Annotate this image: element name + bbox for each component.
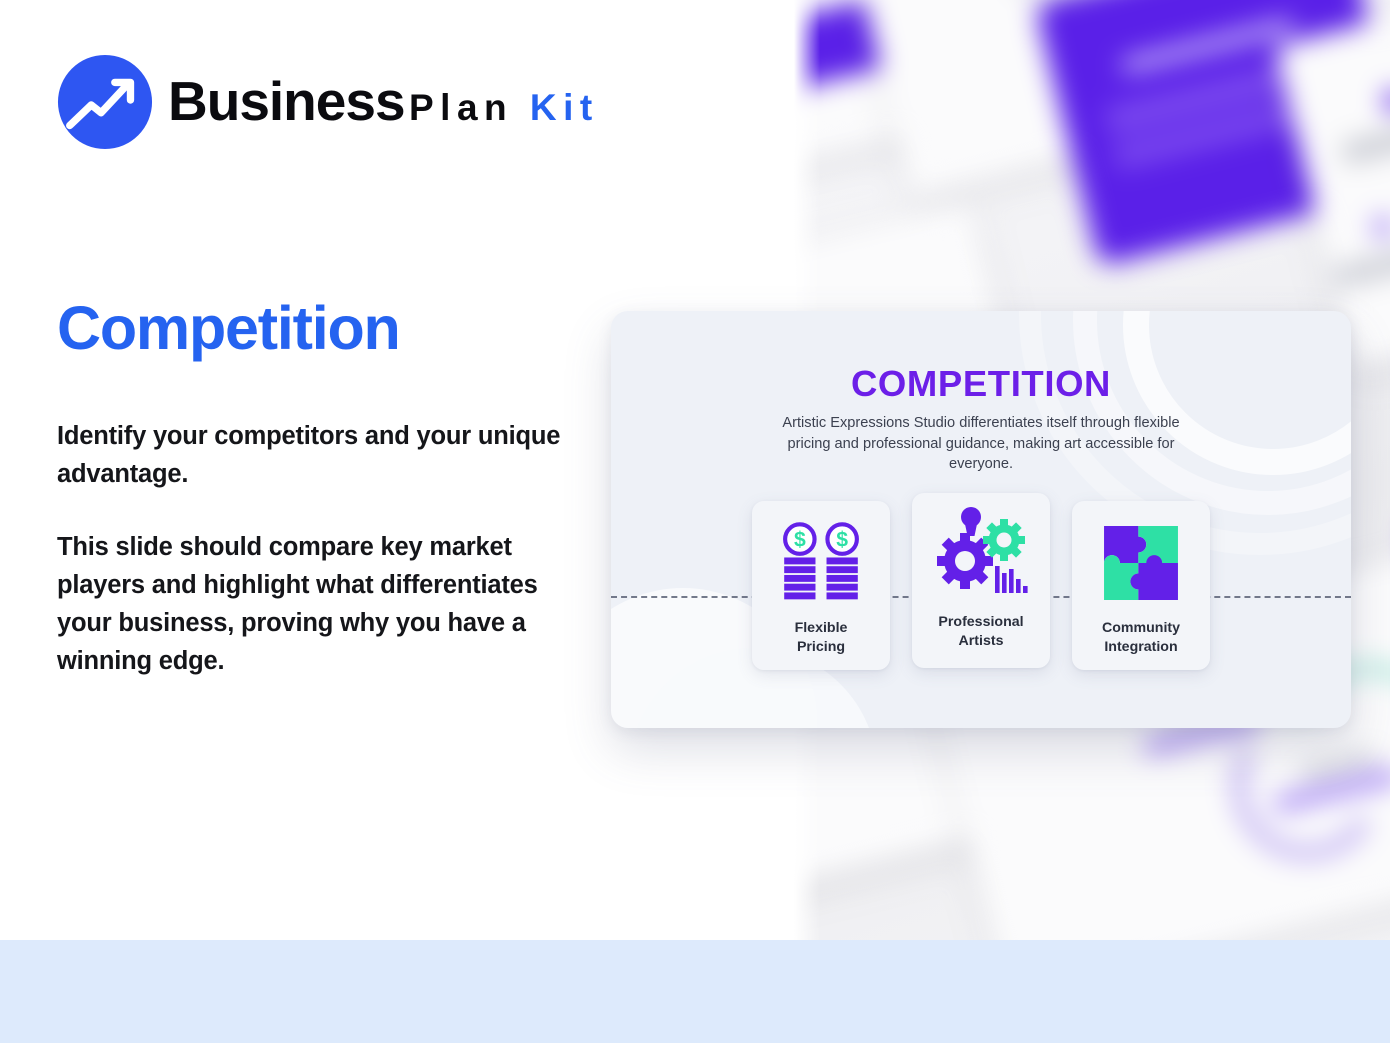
- page-title: Competition: [57, 296, 400, 360]
- feature-card-list: $ $: [611, 501, 1351, 693]
- feature-label-line1: Flexible: [795, 619, 848, 638]
- feature-card-community-integration[interactable]: Community Integration: [1072, 501, 1210, 670]
- feature-label-line2: Integration: [1102, 638, 1180, 657]
- feature-label-line2: Artists: [938, 632, 1023, 651]
- description-paragraph-1: Identify your competitors and your uniqu…: [57, 418, 569, 493]
- feature-card-professional-artists[interactable]: Professional Artists: [912, 493, 1050, 668]
- gears-lightbulb-icon: [931, 501, 1031, 605]
- brand-name-line2: Plan Kit: [409, 87, 599, 128]
- description-block: Identify your competitors and your uniqu…: [57, 418, 569, 680]
- description-paragraph-2: This slide should compare key market pla…: [57, 529, 569, 680]
- brand-logo: Business Plan Kit: [56, 53, 599, 151]
- svg-text:$: $: [836, 528, 848, 551]
- bottom-accent-band: [0, 940, 1390, 1043]
- slide-title: COMPETITION: [611, 363, 1351, 405]
- feature-label-line1: Professional: [938, 613, 1023, 632]
- feature-label-line2: Pricing: [795, 638, 848, 657]
- coin-stacks-icon: $ $: [775, 515, 867, 611]
- brand-name-plan: Plan: [409, 87, 513, 128]
- brand-name-line1: Business: [168, 70, 405, 132]
- svg-text:$: $: [794, 528, 806, 551]
- feature-label-line1: Community: [1102, 619, 1180, 638]
- feature-label-flexible-pricing: Flexible Pricing: [795, 619, 848, 656]
- slide-subtitle: Artistic Expressions Studio differentiat…: [766, 413, 1196, 475]
- brand-wordmark: Business Plan Kit: [168, 74, 599, 130]
- feature-label-professional-artists: Professional Artists: [938, 613, 1023, 650]
- growth-chart-circle-icon: [56, 53, 154, 151]
- page-root: Business Plan Kit Competition Identify y…: [0, 0, 1390, 1043]
- slide-preview-card[interactable]: COMPETITION Artistic Expressions Studio …: [611, 311, 1351, 728]
- feature-label-community-integration: Community Integration: [1102, 619, 1180, 656]
- puzzle-pieces-icon: [1097, 515, 1185, 611]
- brand-name-kit: Kit: [530, 87, 599, 128]
- feature-card-flexible-pricing[interactable]: $ $: [752, 501, 890, 670]
